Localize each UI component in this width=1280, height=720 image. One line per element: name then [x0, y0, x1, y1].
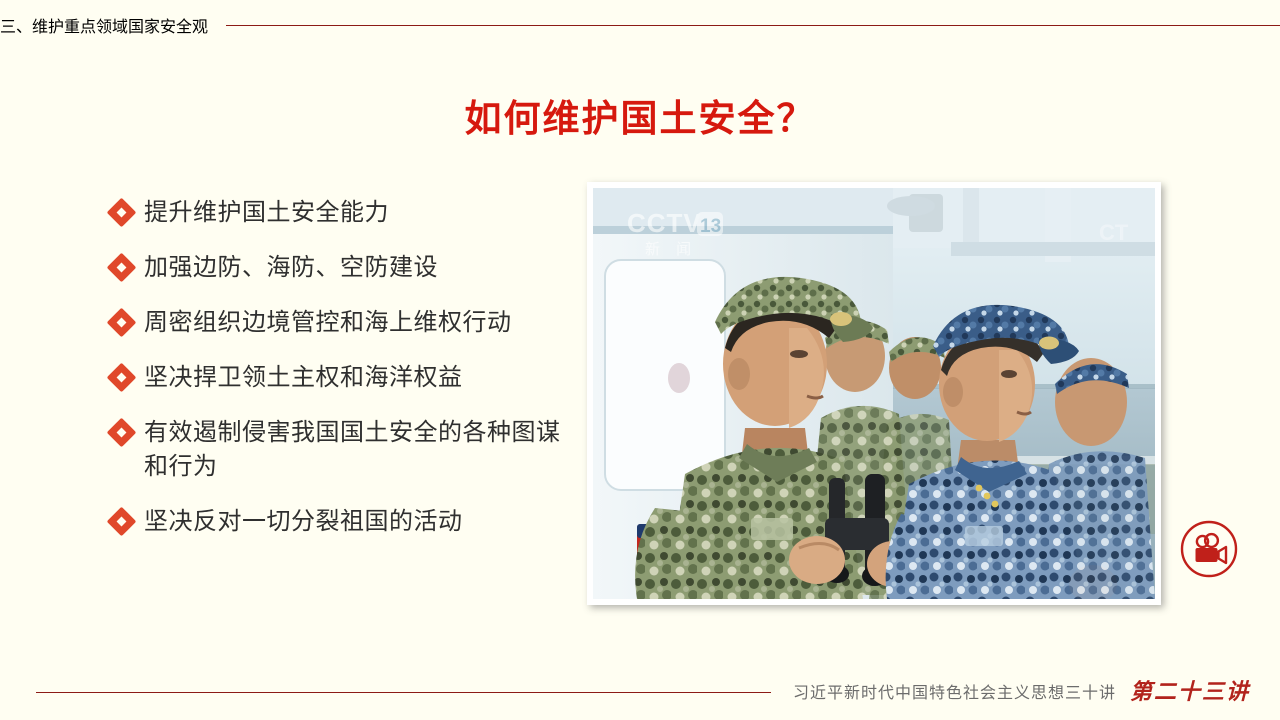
diamond-bullet-icon	[108, 251, 144, 285]
page-title: 如何维护国土安全？	[0, 88, 1280, 142]
list-item: 坚决反对一切分裂祖国的活动	[108, 505, 578, 539]
photo-frame: CCTV 13 新 闻 CT	[587, 182, 1161, 605]
bullet-list: 提升维护国土安全能力 加强边防、海防、空防建设 周密组织边境管控和海上维权行动 …	[108, 196, 578, 560]
list-item: 有效遏制侵害我国国土安全的各种图谋和行为	[108, 416, 578, 484]
svg-text:13: 13	[700, 216, 721, 237]
diamond-bullet-icon	[108, 361, 144, 395]
diamond-bullet-icon	[108, 306, 144, 340]
section-header-text: 三、维护重点领域国家安全观	[0, 13, 208, 37]
list-item-label: 坚决反对一切分裂祖国的活动	[144, 505, 463, 539]
footer: 习近平新时代中国特色社会主义思想三十讲 第二十三讲	[0, 676, 1280, 708]
video-camera-icon[interactable]	[1179, 519, 1239, 579]
diamond-bullet-icon	[108, 196, 144, 230]
footer-series-title: 习近平新时代中国特色社会主义思想三十讲	[793, 679, 1116, 703]
svg-text:CT: CT	[1099, 220, 1129, 245]
svg-text:新 闻: 新 闻	[645, 241, 697, 258]
list-item-label: 有效遏制侵害我国国土安全的各种图谋和行为	[144, 416, 578, 484]
list-item: 提升维护国土安全能力	[108, 196, 578, 230]
footer-lecture-number: 第二十三讲	[1130, 674, 1250, 706]
list-item-label: 提升维护国土安全能力	[144, 196, 389, 230]
list-item: 加强边防、海防、空防建设	[108, 251, 578, 285]
diamond-bullet-icon	[108, 505, 144, 539]
section-header-divider	[226, 25, 1280, 26]
list-item-label: 坚决捍卫领土主权和海洋权益	[144, 361, 463, 395]
footer-divider	[36, 692, 771, 693]
list-item: 坚决捍卫领土主权和海洋权益	[108, 361, 578, 395]
section-header: 三、维护重点领域国家安全观	[0, 0, 1280, 50]
list-item-label: 加强边防、海防、空防建设	[144, 251, 438, 285]
diamond-bullet-icon	[108, 416, 144, 450]
list-item: 周密组织边境管控和海上维权行动	[108, 306, 578, 340]
slide-photo: CCTV 13 新 闻 CT	[593, 188, 1155, 599]
svg-text:CCTV: CCTV	[627, 208, 702, 238]
list-item-label: 周密组织边境管控和海上维权行动	[144, 306, 512, 340]
